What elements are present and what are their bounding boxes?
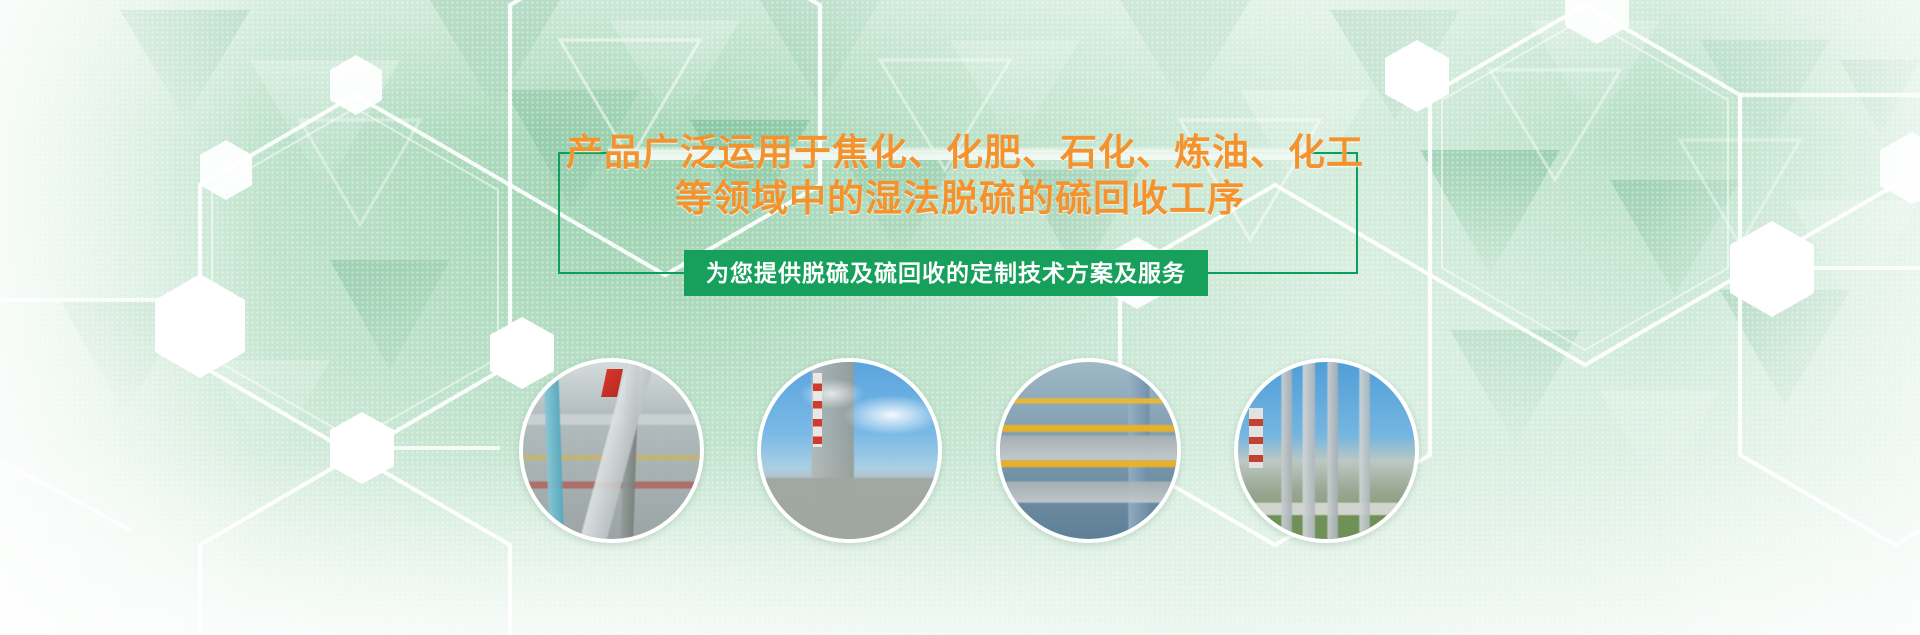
gallery-item-sulfur-recovery-stack-plant[interactable] [757, 358, 942, 543]
hero-subtitle-banner: 为您提供脱硫及硫回收的定制技术方案及服务 [684, 250, 1208, 296]
gallery-item-refinery-distillation-columns[interactable] [1234, 358, 1419, 543]
photo-horizontal-vessel-unit [1000, 362, 1177, 539]
hero-banner: 产品广泛运用于焦化、化肥、石化、炼油、化工 等领域中的湿法脱硫的硫回收工序 为您… [0, 0, 1920, 635]
photo-desulfurization-piping-plant [523, 362, 700, 539]
hero-headline-line-2: 等领域中的湿法脱硫的硫回收工序 [560, 176, 1360, 222]
photo-sulfur-recovery-stack-plant [761, 362, 938, 539]
hero-headline-line-1: 产品广泛运用于焦化、化肥、石化、炼油、化工 [560, 132, 1370, 173]
photo-refinery-distillation-columns [1238, 362, 1415, 539]
photo-gallery [519, 358, 1419, 543]
gallery-item-horizontal-vessel-unit[interactable] [996, 358, 1181, 543]
hero-headline: 产品广泛运用于焦化、化肥、石化、炼油、化工 等领域中的湿法脱硫的硫回收工序 [560, 130, 1360, 222]
gallery-item-desulfurization-piping-plant[interactable] [519, 358, 704, 543]
